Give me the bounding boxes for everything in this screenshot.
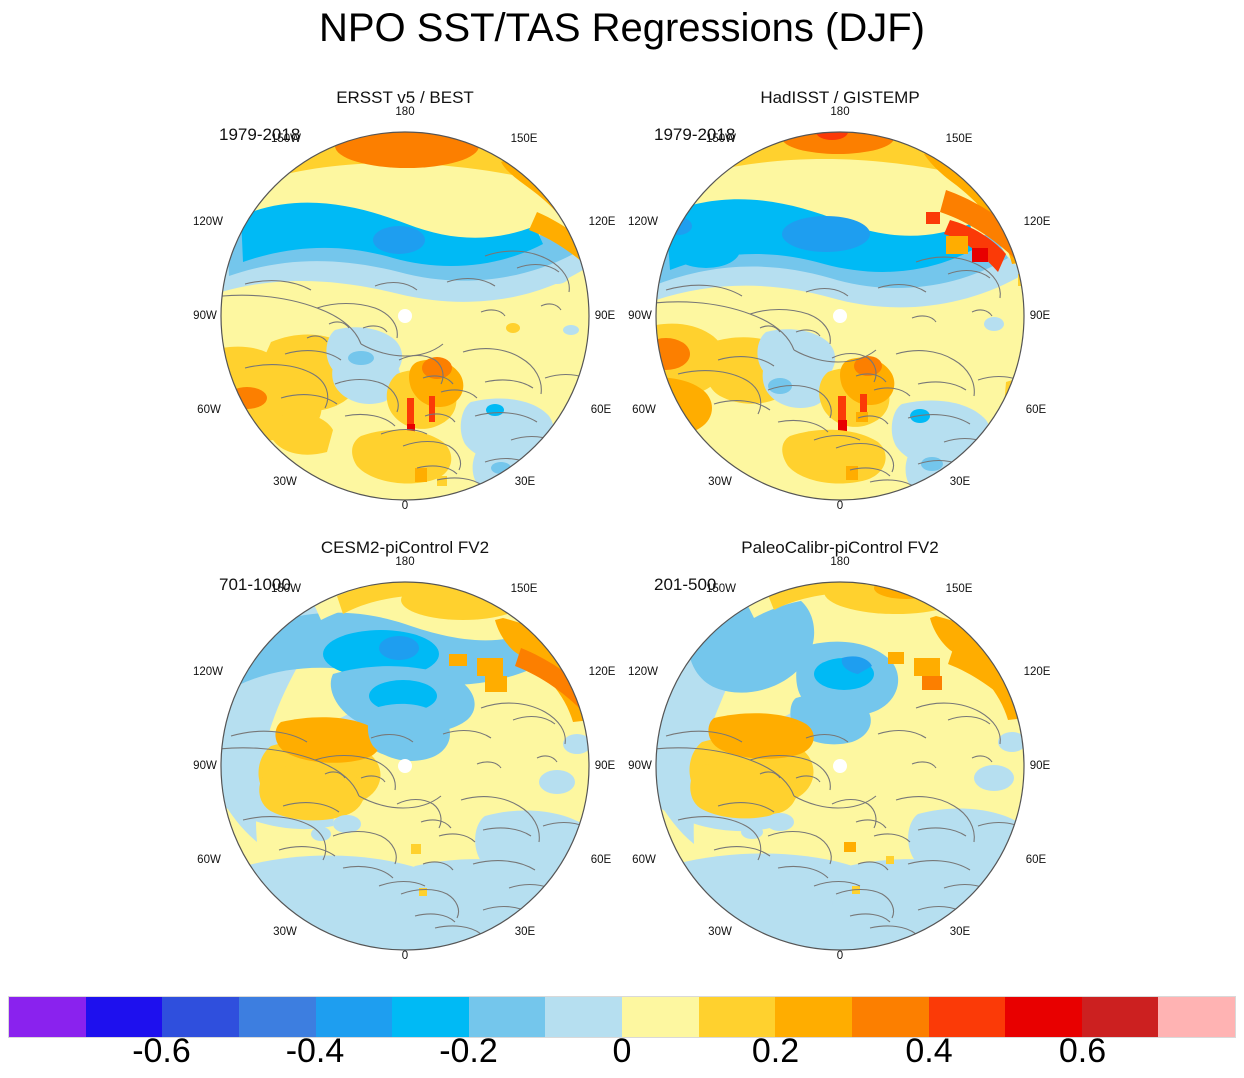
colorbar-cell-10	[775, 997, 852, 1037]
lon-label-90E: 90E	[1020, 760, 1060, 772]
lon-label-120W: 120W	[620, 216, 666, 228]
panel-title: ERSST v5 / BEST	[185, 88, 625, 108]
lon-label-90E: 90E	[1020, 310, 1060, 322]
colorbar-cell-8	[622, 997, 699, 1037]
lon-label-0: 0	[820, 950, 860, 962]
colorbar-cell-2	[162, 997, 239, 1037]
colorbar-cell-11	[852, 997, 929, 1037]
lon-label-90E: 90E	[585, 760, 625, 772]
lon-label-90W: 90W	[185, 760, 225, 772]
panel-title: HadISST / GISTEMP	[620, 88, 1060, 108]
lon-label-150W: 150W	[265, 583, 307, 595]
lon-label-60E: 60E	[581, 854, 621, 866]
panel-paleocalibr-picontrol: PaleoCalibr-piControl FV2 201-500	[620, 538, 1060, 968]
lon-label-150E: 150E	[938, 583, 980, 595]
lon-label-120W: 120W	[620, 666, 666, 678]
lon-label-0: 0	[820, 500, 860, 512]
lon-label-180: 180	[385, 556, 425, 568]
lon-label-30W: 30W	[263, 926, 307, 938]
colorbar-cell-1	[86, 997, 163, 1037]
lon-label-60W: 60W	[624, 404, 664, 416]
lon-label-60W: 60W	[189, 404, 229, 416]
map-ersst-best	[185, 116, 625, 516]
lon-label-0: 0	[385, 500, 425, 512]
colorbar-cell-3	[239, 997, 316, 1037]
lon-label-90W: 90W	[620, 310, 660, 322]
lon-label-90W: 90W	[620, 760, 660, 772]
lon-label-30E: 30E	[938, 476, 982, 488]
lon-label-150E: 150E	[503, 583, 545, 595]
lon-label-180: 180	[820, 556, 860, 568]
lon-label-150W: 150W	[700, 583, 742, 595]
lon-label-30E: 30E	[503, 926, 547, 938]
lon-label-180: 180	[385, 106, 425, 118]
colorbar-tick--0.2: -0.2	[439, 1032, 498, 1071]
lon-label-30E: 30E	[938, 926, 982, 938]
lon-label-30W: 30W	[698, 926, 742, 938]
panel-title: PaleoCalibr-piControl FV2	[620, 538, 1060, 558]
colorbar-cell-15	[1158, 997, 1235, 1037]
lon-label-120E: 120E	[579, 216, 625, 228]
colorbar-cell-13	[1005, 997, 1082, 1037]
lon-label-90W: 90W	[185, 310, 225, 322]
colorbar-cell-6	[469, 997, 546, 1037]
figure-title: NPO SST/TAS Regressions (DJF)	[0, 6, 1244, 51]
colorbar-cell-0	[9, 997, 86, 1037]
colorbar-cell-5	[392, 997, 469, 1037]
colorbar-tick-labels: -0.6-0.4-0.200.20.40.6	[0, 1032, 1244, 1078]
lon-label-120W: 120W	[185, 666, 231, 678]
colorbar-tick-0.2: 0.2	[752, 1032, 799, 1071]
panel-hadisst-gistemp: HadISST / GISTEMP 1979-2018	[620, 88, 1060, 518]
map-cesm2-picontrol	[185, 566, 625, 966]
lon-label-150W: 150W	[265, 133, 307, 145]
lon-label-30W: 30W	[698, 476, 742, 488]
lon-label-180: 180	[820, 106, 860, 118]
lon-label-90E: 90E	[585, 310, 625, 322]
colorbar-tick-0.4: 0.4	[905, 1032, 952, 1071]
lon-label-120W: 120W	[185, 216, 231, 228]
lon-label-60W: 60W	[189, 854, 229, 866]
colorbar-tick-0: 0	[613, 1032, 632, 1071]
colorbar-cell-7	[545, 997, 622, 1037]
lon-label-60E: 60E	[1016, 404, 1056, 416]
colorbar-cell-14	[1082, 997, 1159, 1037]
colorbar-cell-12	[929, 997, 1006, 1037]
lon-label-60E: 60E	[581, 404, 621, 416]
lon-label-120E: 120E	[579, 666, 625, 678]
lon-label-30W: 30W	[263, 476, 307, 488]
lon-label-60E: 60E	[1016, 854, 1056, 866]
colorbar-cell-9	[699, 997, 776, 1037]
panel-title: CESM2-piControl FV2	[185, 538, 625, 558]
lon-label-60W: 60W	[624, 854, 664, 866]
lon-label-120E: 120E	[1014, 666, 1060, 678]
map-hadisst-gistemp	[620, 116, 1060, 516]
lon-label-120E: 120E	[1014, 216, 1060, 228]
colorbar-tick--0.4: -0.4	[286, 1032, 345, 1071]
lon-label-30E: 30E	[503, 476, 547, 488]
lon-label-150W: 150W	[700, 133, 742, 145]
panel-cesm2-picontrol: CESM2-piControl FV2 701-1000	[185, 538, 625, 968]
colorbar-cell-4	[316, 997, 393, 1037]
lon-label-0: 0	[385, 950, 425, 962]
figure-canvas: NPO SST/TAS Regressions (DJF) ERSST v5 /…	[0, 0, 1244, 1078]
lon-label-150E: 150E	[938, 133, 980, 145]
map-paleocalibr-picontrol	[620, 566, 1060, 966]
colorbar-tick-0.6: 0.6	[1059, 1032, 1106, 1071]
lon-label-150E: 150E	[503, 133, 545, 145]
colorbar-tick--0.6: -0.6	[132, 1032, 191, 1071]
panel-ersst-best: ERSST v5 / BEST 1979-2018	[185, 88, 625, 518]
